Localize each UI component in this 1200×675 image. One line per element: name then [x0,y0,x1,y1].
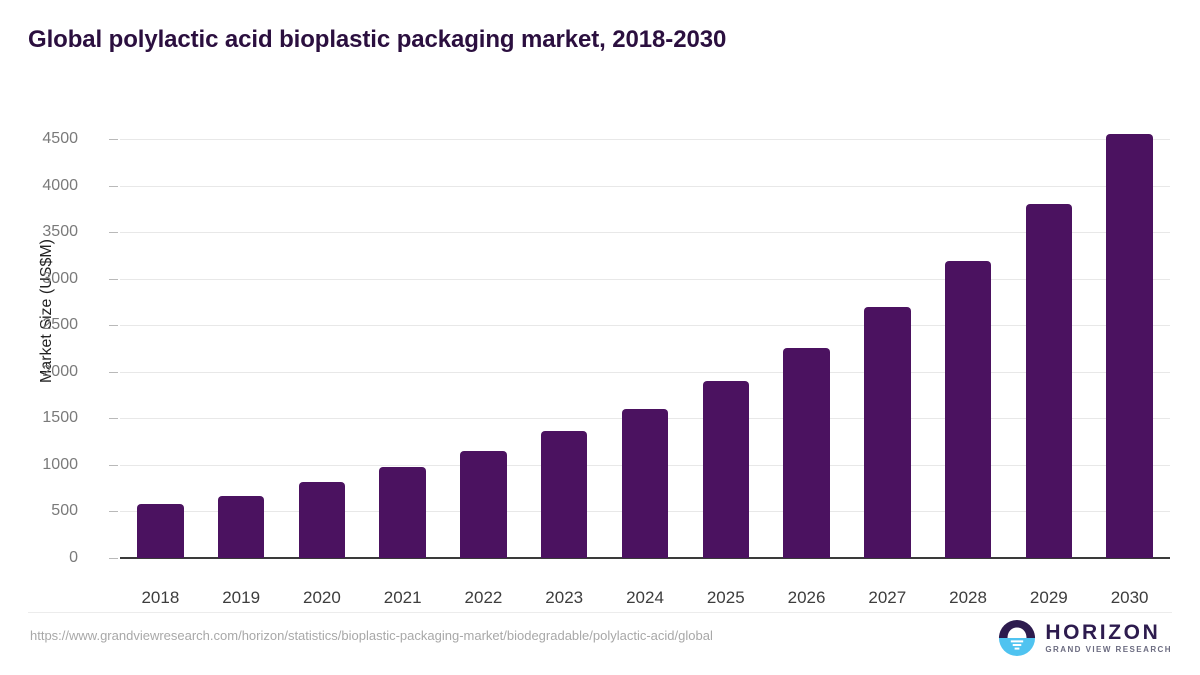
y-axis-tick-mark [109,139,118,140]
bar-column[interactable] [622,116,668,558]
y-axis-tick-mark [109,511,118,512]
bar[interactable] [218,496,264,558]
y-axis-tick-label: 1000 [0,456,78,474]
bar[interactable] [783,348,829,558]
y-axis-tick-label: 500 [0,502,78,520]
source-url[interactable]: https://www.grandviewresearch.com/horizo… [30,628,713,643]
y-axis-tick-label: 2000 [0,363,78,381]
bar[interactable] [703,381,749,558]
x-axis-tick-label: 2020 [303,588,341,608]
bar[interactable] [945,261,991,558]
y-axis-tick-label: 2500 [0,316,78,334]
y-axis-tick-mark [109,465,118,466]
bars-group [120,116,1170,558]
y-axis-tick-label: 3500 [0,223,78,241]
bar-column[interactable] [541,116,587,558]
x-axis-tick-label: 2029 [1030,588,1068,608]
y-axis-tick-mark [109,325,118,326]
x-axis-tick-label: 2028 [949,588,987,608]
bar-column[interactable] [460,116,506,558]
horizon-logo-text: HORIZON GRAND VIEW RESEARCH [1045,622,1172,654]
y-axis-tick-mark [109,558,118,559]
x-axis-tick-label: 2023 [545,588,583,608]
x-axis-tick-label: 2027 [868,588,906,608]
x-axis-tick-label: 2026 [788,588,826,608]
footer-divider [28,612,1172,613]
y-axis-tick-mark [109,186,118,187]
bar-column[interactable] [783,116,829,558]
page-title: Global polylactic acid bioplastic packag… [28,26,726,54]
bar-column[interactable] [218,116,264,558]
y-axis-tick-mark [109,372,118,373]
bar[interactable] [137,504,183,558]
horizon-logo-icon [998,619,1036,657]
bar-column[interactable] [703,116,749,558]
x-axis-tick-label: 2018 [141,588,179,608]
y-axis-tick-label: 4500 [0,130,78,148]
y-axis-tick-label: 3000 [0,270,78,288]
bar-column[interactable] [137,116,183,558]
chart-page: Global polylactic acid bioplastic packag… [0,0,1200,675]
logo-wordmark: HORIZON [1045,622,1172,643]
bar[interactable] [1106,134,1152,558]
y-axis-tick-label: 1500 [0,409,78,427]
bar[interactable] [379,467,425,558]
bar[interactable] [622,409,668,558]
x-axis-tick-label: 2025 [707,588,745,608]
y-axis-tick-label: 4000 [0,177,78,195]
bar-column[interactable] [299,116,345,558]
x-axis-tick-label: 2030 [1111,588,1149,608]
x-axis-tick-label: 2019 [222,588,260,608]
bar[interactable] [460,451,506,558]
bar[interactable] [864,307,910,558]
y-axis-tick-mark [109,279,118,280]
bar[interactable] [299,482,345,558]
chart-plot-wrapper: Market Size (US$M) 050010001500200025003… [0,96,1200,601]
x-axis-tick-label: 2021 [384,588,422,608]
horizon-logo: HORIZON GRAND VIEW RESEARCH [998,618,1172,658]
bar-column[interactable] [945,116,991,558]
y-axis-tick-label: 0 [0,549,78,567]
bar-column[interactable] [864,116,910,558]
bar[interactable] [541,431,587,558]
plot-area: 050010001500200025003000350040004500 201… [120,116,1170,558]
logo-tagline: GRAND VIEW RESEARCH [1045,646,1172,654]
x-axis-tick-label: 2022 [465,588,503,608]
bar-column[interactable] [1026,116,1072,558]
bar[interactable] [1026,204,1072,558]
bar-column[interactable] [379,116,425,558]
bar-column[interactable] [1106,116,1152,558]
y-axis-tick-mark [109,418,118,419]
y-axis-tick-mark [109,232,118,233]
x-axis-tick-label: 2024 [626,588,664,608]
